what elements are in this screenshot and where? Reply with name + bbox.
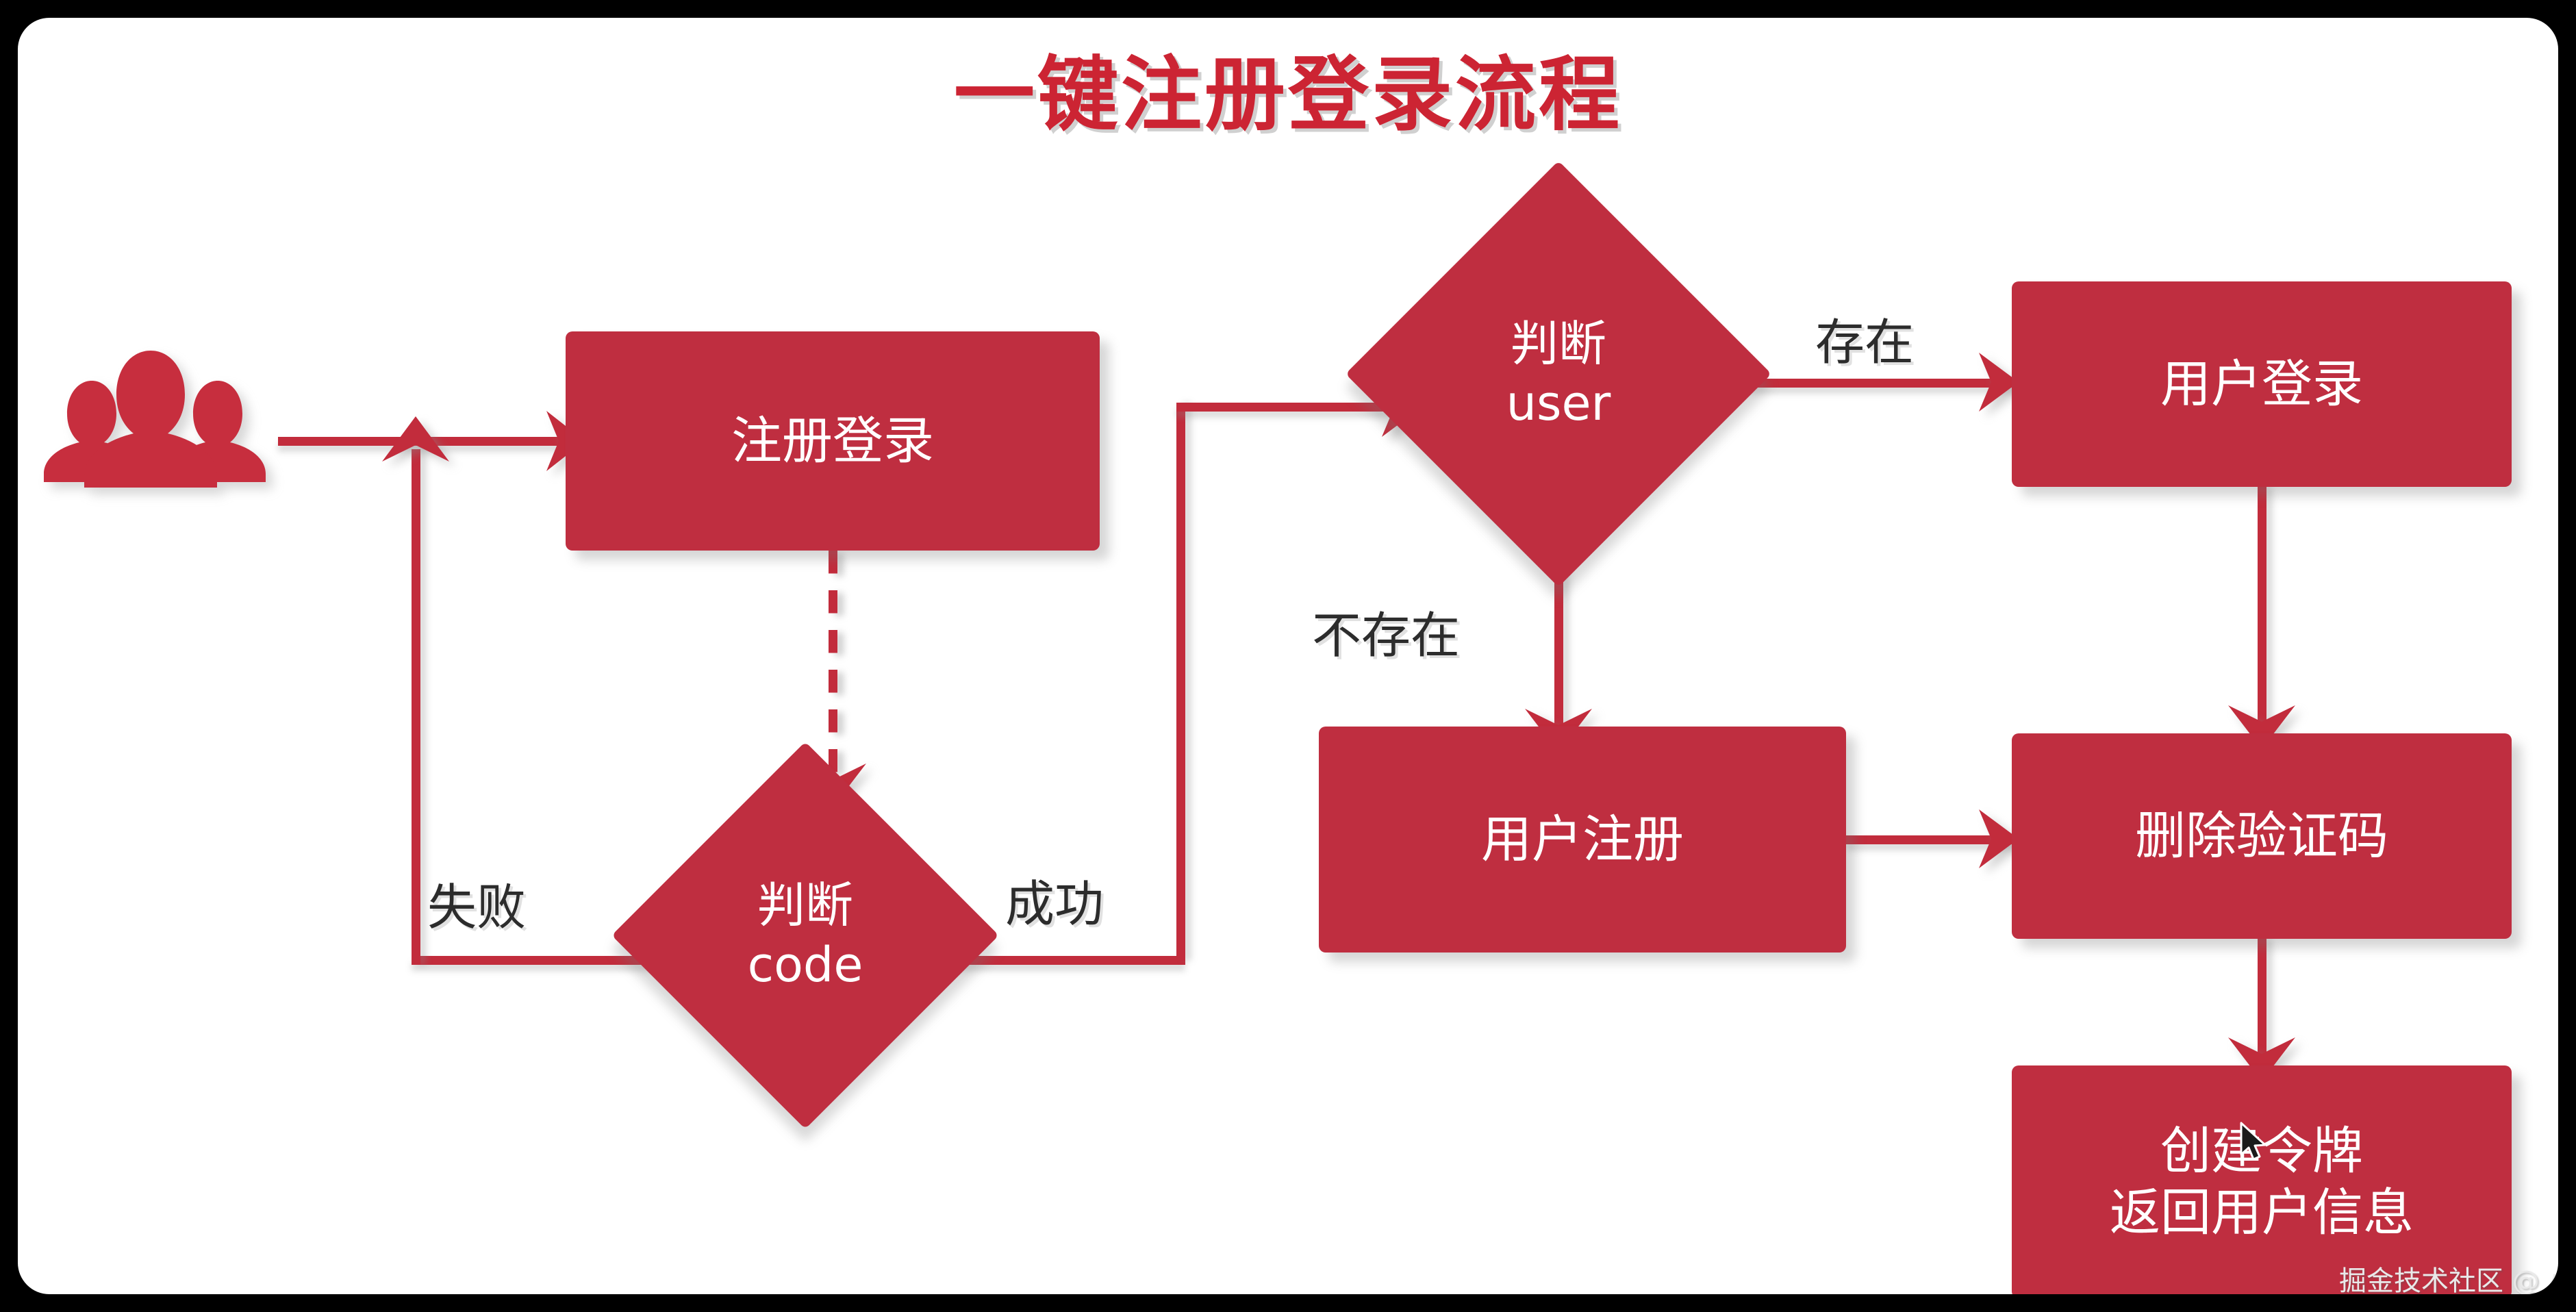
edge-fail-vertical xyxy=(412,449,420,965)
node-register-login-label: 注册登录 xyxy=(731,410,934,472)
judge-code-line1: 判断 xyxy=(757,876,853,935)
edge-success-vertical xyxy=(1176,403,1185,961)
judge-code-text: 判断 code xyxy=(668,798,942,1072)
users-group-icon xyxy=(31,345,299,496)
judge-code-line2: code xyxy=(748,935,863,995)
judge-user-line1: 判断 xyxy=(1511,314,1606,374)
edge-label-not-exists: 不存在 xyxy=(1312,595,1460,667)
edge-label-success: 成功 xyxy=(1005,863,1104,935)
judge-user-line2: user xyxy=(1506,374,1611,433)
arrowhead-fail-to-main xyxy=(381,414,451,463)
node-user-register-label: 用户注册 xyxy=(1481,809,1684,870)
judge-user-text: 判断 user xyxy=(1408,223,1709,525)
node-judge-code[interactable]: 判断 code xyxy=(668,798,942,1072)
node-delete-captcha-label: 删除验证码 xyxy=(2135,805,2388,867)
node-create-token-line2: 返回用户信息 xyxy=(2110,1182,2414,1244)
node-user-login[interactable]: 用户登录 xyxy=(2012,281,2512,487)
flowchart-canvas: 一键注册登录流程 注册登录 判断 code xyxy=(18,18,2558,1294)
edge-label-fail: 失败 xyxy=(427,867,526,939)
node-judge-user[interactable]: 判断 user xyxy=(1408,223,1709,525)
node-register-login[interactable]: 注册登录 xyxy=(566,331,1100,551)
screenshot-root: 一键注册登录流程 注册登录 判断 code xyxy=(0,0,2576,1312)
edge-register-to-judgecode-dashed xyxy=(829,551,837,777)
node-user-login-label: 用户登录 xyxy=(2160,353,2363,415)
watermark: 掘金技术社区 @ 小秋吖 xyxy=(2339,1259,2558,1294)
page-title: 一键注册登录流程 xyxy=(18,51,2558,140)
node-user-register[interactable]: 用户注册 xyxy=(1319,727,1846,953)
edge-label-exists: 存在 xyxy=(1815,302,1914,374)
node-delete-captcha[interactable]: 删除验证码 xyxy=(2012,733,2512,939)
mouse-cursor xyxy=(2239,1122,2269,1167)
